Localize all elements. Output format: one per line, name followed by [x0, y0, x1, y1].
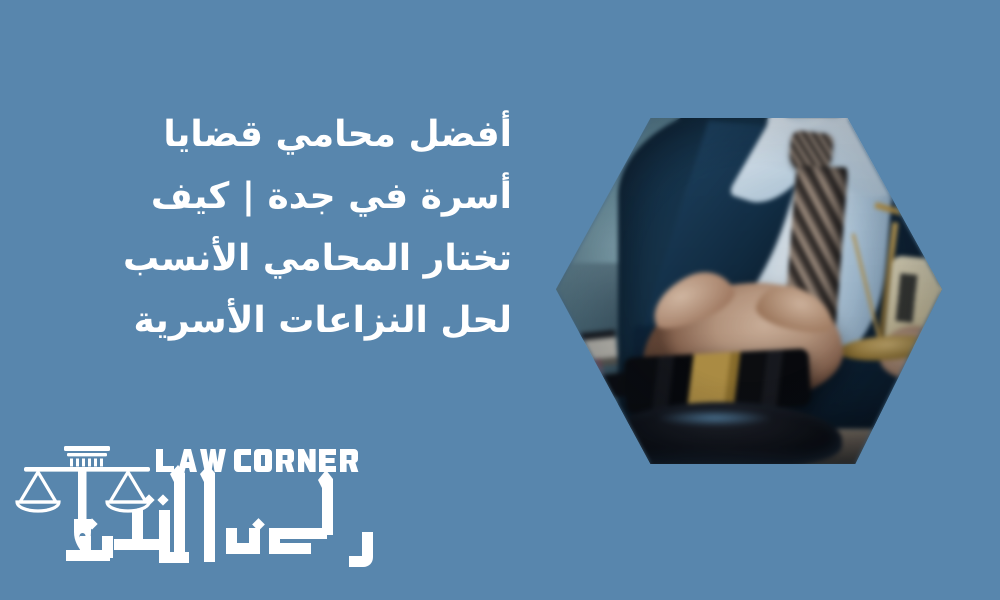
- headline-text: أفضل محامي قضايا أسرة في جدة | كيف تختار…: [62, 104, 512, 352]
- page-title: أفضل محامي قضايا أسرة في جدة | كيف تختار…: [62, 104, 512, 352]
- logo-arabic-wordmark: [66, 465, 373, 567]
- photo-block-highlight: [656, 410, 772, 426]
- photo-book: [556, 329, 619, 371]
- logo-latin-wordmark: [156, 449, 358, 472]
- hero-image-hexagon: [556, 118, 942, 464]
- photo-bookmark: [585, 359, 604, 382]
- cover-canvas: أفضل محامي قضايا أسرة في جدة | كيف تختار…: [0, 0, 1000, 600]
- brand-logo[interactable]: [14, 432, 394, 582]
